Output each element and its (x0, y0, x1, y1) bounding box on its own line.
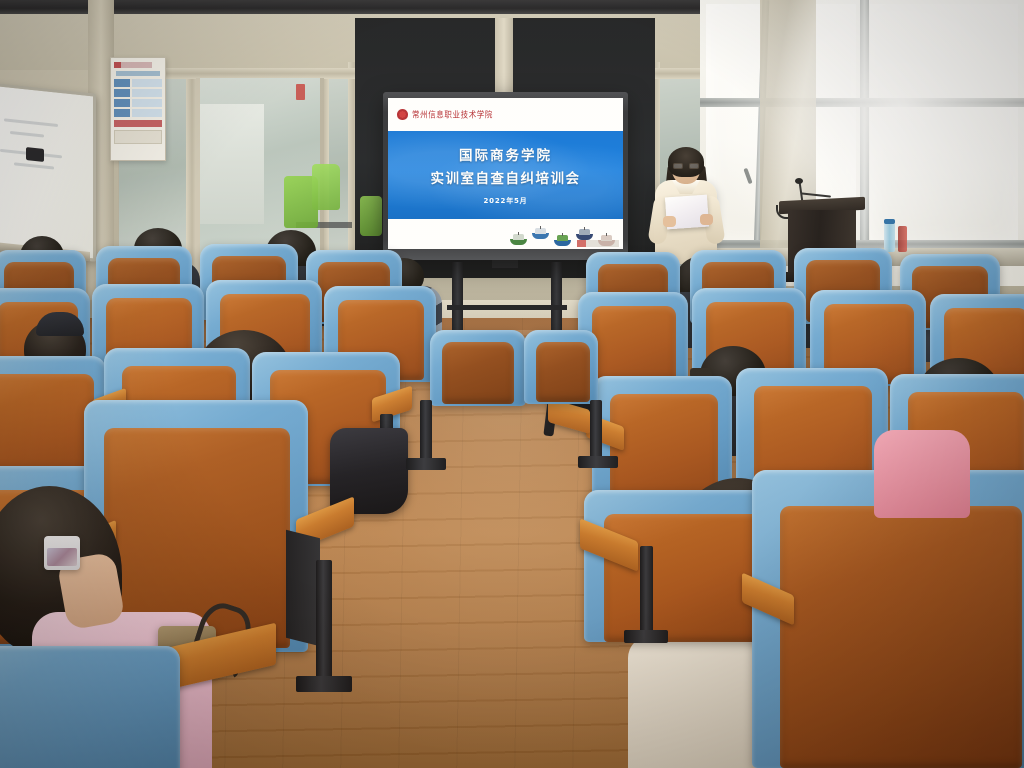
phone-screen (47, 548, 77, 566)
poster-row (114, 79, 162, 87)
seat-backrest (610, 394, 718, 502)
slide-title-line-2: 实训室自查自纠培训会 (431, 167, 581, 187)
window-wall (700, 0, 1024, 286)
presenter-hand (700, 214, 713, 225)
poster-title-bar (116, 71, 160, 76)
boat-graphic-icon (554, 233, 571, 246)
seat-leg (640, 546, 653, 638)
display-screen: 常州信息职业技术学院 国际商务学院 实训室自查自纠培训会 2022年5月 (388, 98, 623, 249)
seat-backrest (592, 306, 676, 384)
seat-side-panel (286, 530, 320, 646)
adjacent-room-wall (200, 104, 264, 224)
seat-leg-foot (624, 630, 668, 643)
slide-header: 常州信息职业技术学院 (388, 98, 623, 131)
whiteboard-eraser[interactable] (26, 147, 44, 162)
seat-leg-foot (578, 456, 618, 468)
university-emblem-icon (397, 109, 408, 120)
presenter-hair (668, 147, 704, 177)
presenter-hand (663, 216, 676, 227)
slide-date: 2022年5月 (484, 196, 528, 206)
boat-graphic-icon (576, 227, 593, 240)
university-name: 常州信息职业技术学院 (412, 108, 493, 121)
door-sticker (296, 84, 305, 100)
window-mullion-vertical (860, 0, 869, 250)
microphone-icon (795, 178, 803, 184)
poster-row (114, 99, 162, 107)
seat-leg-foot (406, 458, 446, 470)
window-pane-right (870, 4, 1018, 244)
poster-row (114, 89, 162, 97)
seat-backrest (780, 506, 1022, 768)
display-brand-badge (577, 240, 619, 247)
poster-logo (114, 62, 152, 68)
poster-row (114, 109, 162, 117)
slide-title-line-1: 国际商务学院 (459, 144, 552, 164)
poster-footer-bar (114, 120, 162, 127)
adjacent-room-green-chair (360, 196, 382, 236)
eyeglasses-icon (673, 163, 699, 169)
seat-leg (316, 560, 332, 686)
seat-leg-foot (296, 676, 352, 692)
window-bottom-rail (700, 240, 1024, 248)
window-transom-rail (700, 98, 1024, 107)
display-stand-crossbar (447, 305, 567, 310)
seat-backrest (536, 342, 590, 402)
bottle-cap (884, 219, 895, 224)
flat-panel-display[interactable]: 常州信息职业技术学院 国际商务学院 实训室自查自纠培训会 2022年5月 (383, 92, 628, 260)
lecture-hall-photo: 常州信息职业技术学院 国际商务学院 实训室自查自纠培训会 2022年5月 (0, 0, 1024, 768)
slide-body: 国际商务学院 实训室自查自纠培训会 2022年5月 (388, 131, 623, 219)
poster-note-block (114, 130, 162, 144)
water-bottle (884, 222, 895, 252)
seat-leg (590, 400, 602, 464)
seat-backrest (442, 342, 514, 404)
adjacent-room-green-chair (312, 164, 340, 210)
auditorium-seat[interactable] (0, 646, 180, 768)
attendee-body (874, 430, 970, 518)
red-cup (898, 226, 907, 252)
boat-graphic-icon (510, 232, 527, 245)
wall-information-notice (110, 57, 166, 161)
boat-graphic-icon (532, 226, 549, 239)
seat-leg (420, 400, 432, 466)
